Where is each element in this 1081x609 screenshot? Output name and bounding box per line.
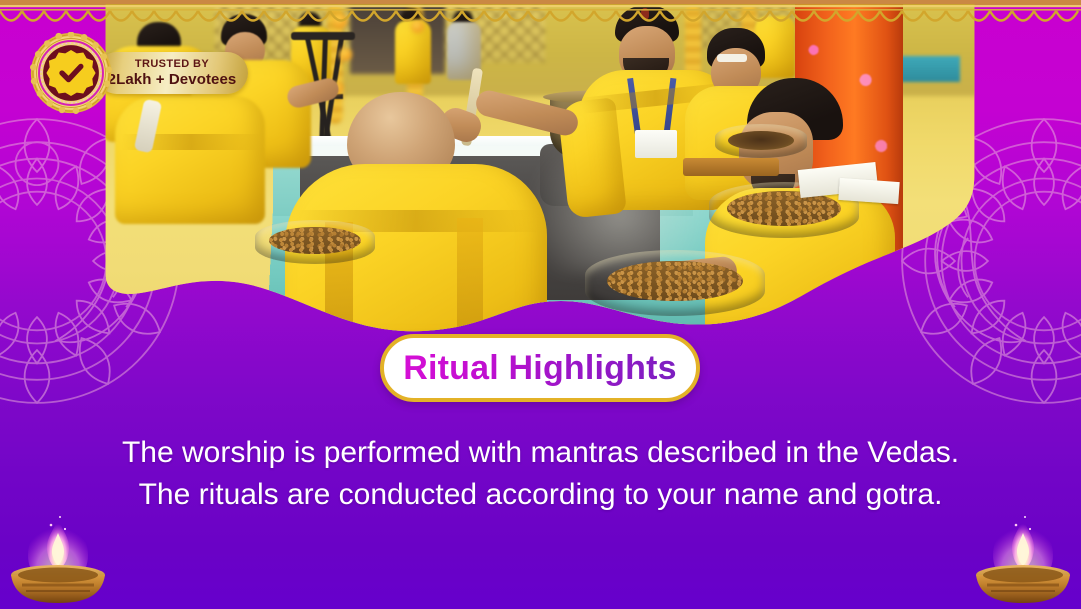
trusted-by-label: TRUSTED BY [135,58,209,71]
description-line-1: The worship is performed with mantras de… [0,432,1081,474]
trusted-by-badge: TRUSTED BY 2Lakh + Devotees [96,52,248,94]
verified-check-seal-icon [30,32,112,114]
diya-lamp-right [967,513,1079,605]
description-text: The worship is performed with mantras de… [0,432,1081,516]
diya-lamp-left [2,513,114,605]
gold-scalloped-toran [0,0,1081,30]
description-line-2: The rituals are conducted according to y… [0,474,1081,516]
section-title-pill: Ritual Highlights [380,334,700,402]
devotee-count-label: 2Lakh + Devotees [108,71,237,88]
poster-root: TRUSTED BY 2Lakh + Devotees [0,0,1081,609]
page-title: Ritual Highlights [403,349,677,388]
